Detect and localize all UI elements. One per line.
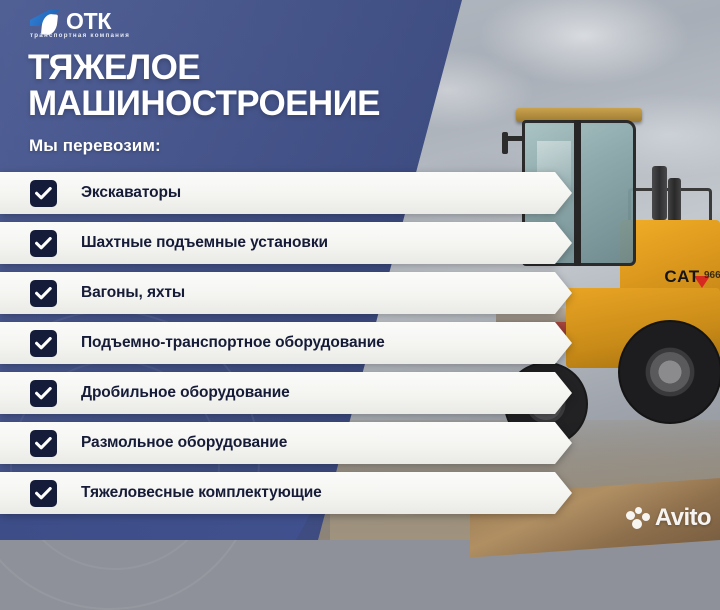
list-item-label: Подъемно-транспортное оборудование <box>81 334 385 352</box>
checkmark-icon <box>30 380 57 407</box>
checkmark-icon <box>30 480 57 507</box>
list-item[interactable]: Размольное оборудование <box>0 422 572 464</box>
cab-mirror <box>504 136 524 141</box>
services-checklist: ЭкскаваторыШахтные подъемные установкиВа… <box>0 172 720 522</box>
page-title: ТЯЖЕЛОЕ МАШИНОСТРОЕНИЕ <box>28 50 498 122</box>
avito-watermark-text: Avito <box>655 504 711 532</box>
list-item-label: Дробильное оборудование <box>81 384 290 402</box>
list-item[interactable]: Вагоны, яхты <box>0 272 572 314</box>
avito-dots-icon <box>626 507 650 529</box>
subtitle: Мы перевозим: <box>29 136 161 156</box>
list-item-content: Дробильное оборудование <box>0 380 572 407</box>
logo-text: ОТК <box>66 9 111 33</box>
avito-watermark: Avito <box>626 504 711 532</box>
list-item-label: Размольное оборудование <box>81 434 287 452</box>
list-item-label: Шахтные подъемные установки <box>81 234 328 252</box>
list-item-content: Шахтные подъемные установки <box>0 230 572 257</box>
checkmark-icon <box>30 330 57 357</box>
list-item-content: Экскаваторы <box>0 180 572 207</box>
list-item[interactable]: Тяжеловесные комплектующие <box>0 472 572 514</box>
checkmark-icon <box>30 180 57 207</box>
checkmark-icon <box>30 430 57 457</box>
list-item[interactable]: Шахтные подъемные установки <box>0 222 572 264</box>
checkmark-icon <box>30 230 57 257</box>
list-item[interactable]: Экскаваторы <box>0 172 572 214</box>
headline-line-2: МАШИНОСТРОЕНИЕ <box>28 86 498 122</box>
list-item-content: Размольное оборудование <box>0 430 572 457</box>
list-item-label: Экскаваторы <box>81 184 181 202</box>
list-item[interactable]: Дробильное оборудование <box>0 372 572 414</box>
list-item-content: Подъемно-транспортное оборудование <box>0 330 572 357</box>
list-item-label: Тяжеловесные комплектующие <box>81 484 322 502</box>
checkmark-icon <box>30 280 57 307</box>
headline-line-1: ТЯЖЕЛОЕ <box>28 48 200 87</box>
list-item-content: Тяжеловесные комплектующие <box>0 480 572 507</box>
list-item[interactable]: Подъемно-транспортное оборудование <box>0 322 572 364</box>
list-item-label: Вагоны, яхты <box>81 284 185 302</box>
list-item-content: Вагоны, яхты <box>0 280 572 307</box>
logo-tagline: транспортная компания <box>30 32 130 39</box>
